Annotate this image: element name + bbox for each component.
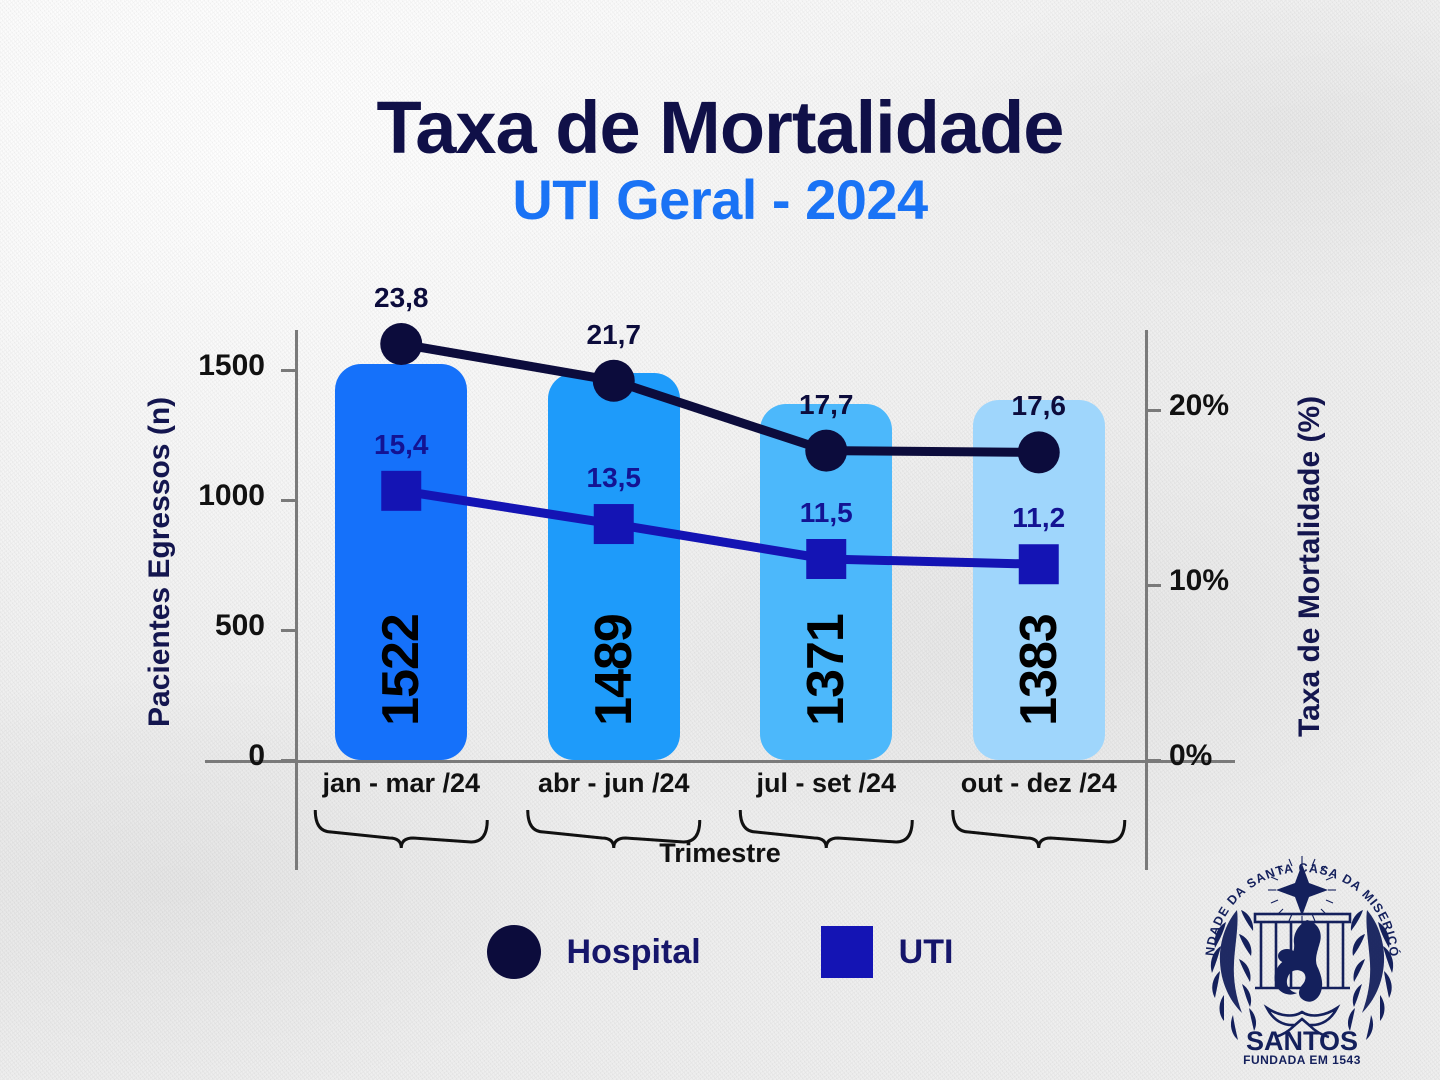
right-tick xyxy=(1147,584,1161,587)
left-tick xyxy=(281,629,295,632)
legend-label-uti: UTI xyxy=(899,933,954,972)
legend-label-hospital: Hospital xyxy=(567,933,701,972)
series-line-uti xyxy=(401,491,1039,564)
svg-text:FUNDADA EM 1543: FUNDADA EM 1543 xyxy=(1243,1053,1361,1067)
baseline-axis xyxy=(205,760,1235,763)
data-label-uti: 15,4 xyxy=(331,429,471,461)
bar-value-label: 1371 xyxy=(796,600,856,740)
page-subtitle: UTI Geral - 2024 xyxy=(0,169,1440,232)
left-tick-label: 0 xyxy=(115,739,265,773)
legend-item-uti[interactable]: UTI xyxy=(821,926,954,978)
right-tick-label: 0% xyxy=(1169,739,1212,773)
circle-marker-icon xyxy=(487,925,541,979)
data-label-uti: 11,2 xyxy=(969,502,1109,534)
left-tick-label: 1000 xyxy=(115,479,265,513)
data-label-uti: 11,5 xyxy=(756,497,896,529)
data-label-hospital: 17,6 xyxy=(969,390,1109,422)
left-tick-label: 1500 xyxy=(115,349,265,383)
right-tick xyxy=(1147,409,1161,412)
data-label-uti: 13,5 xyxy=(544,462,684,494)
right-tick-label: 10% xyxy=(1169,564,1229,598)
logo-crest-icon: IRMANDADE DA SANTA CASA DA MISERICÓRDIA xyxy=(1195,838,1410,1068)
category-label-3: jul - set /24 xyxy=(716,768,936,799)
category-label-4: out - dez /24 xyxy=(929,768,1149,799)
legend-item-hospital[interactable]: Hospital xyxy=(487,925,701,979)
left-tick xyxy=(281,759,295,762)
data-label-hospital: 23,8 xyxy=(331,282,471,314)
square-marker-icon xyxy=(821,926,873,978)
category-label-2: abr - jun /24 xyxy=(504,768,724,799)
svg-text:SANTOS: SANTOS xyxy=(1246,1026,1358,1056)
left-tick xyxy=(281,499,295,502)
santa-casa-logo: IRMANDADE DA SANTA CASA DA MISERICÓRDIA xyxy=(1195,838,1410,1068)
right-tick-label: 20% xyxy=(1169,389,1229,423)
category-label-1: jan - mar /24 xyxy=(291,768,511,799)
bar-value-label: 1522 xyxy=(371,600,431,740)
left-tick-label: 500 xyxy=(115,609,265,643)
data-label-hospital: 21,7 xyxy=(544,319,684,351)
data-label-hospital: 17,7 xyxy=(756,389,896,421)
page-title: Taxa de Mortalidade xyxy=(0,92,1440,165)
left-axis-title: Pacientes Egressos (n) xyxy=(143,397,177,727)
bar-value-label: 1383 xyxy=(1009,600,1069,740)
right-tick xyxy=(1147,759,1161,762)
series-line-hospital xyxy=(401,344,1039,452)
data-point-marker[interactable] xyxy=(380,323,422,365)
right-axis-title: Taxa de Mortalidade (%) xyxy=(1293,407,1327,737)
left-tick xyxy=(281,369,295,372)
chart-title-block: Taxa de Mortalidade UTI Geral - 2024 xyxy=(0,92,1440,231)
bar-value-label: 1489 xyxy=(584,600,644,740)
